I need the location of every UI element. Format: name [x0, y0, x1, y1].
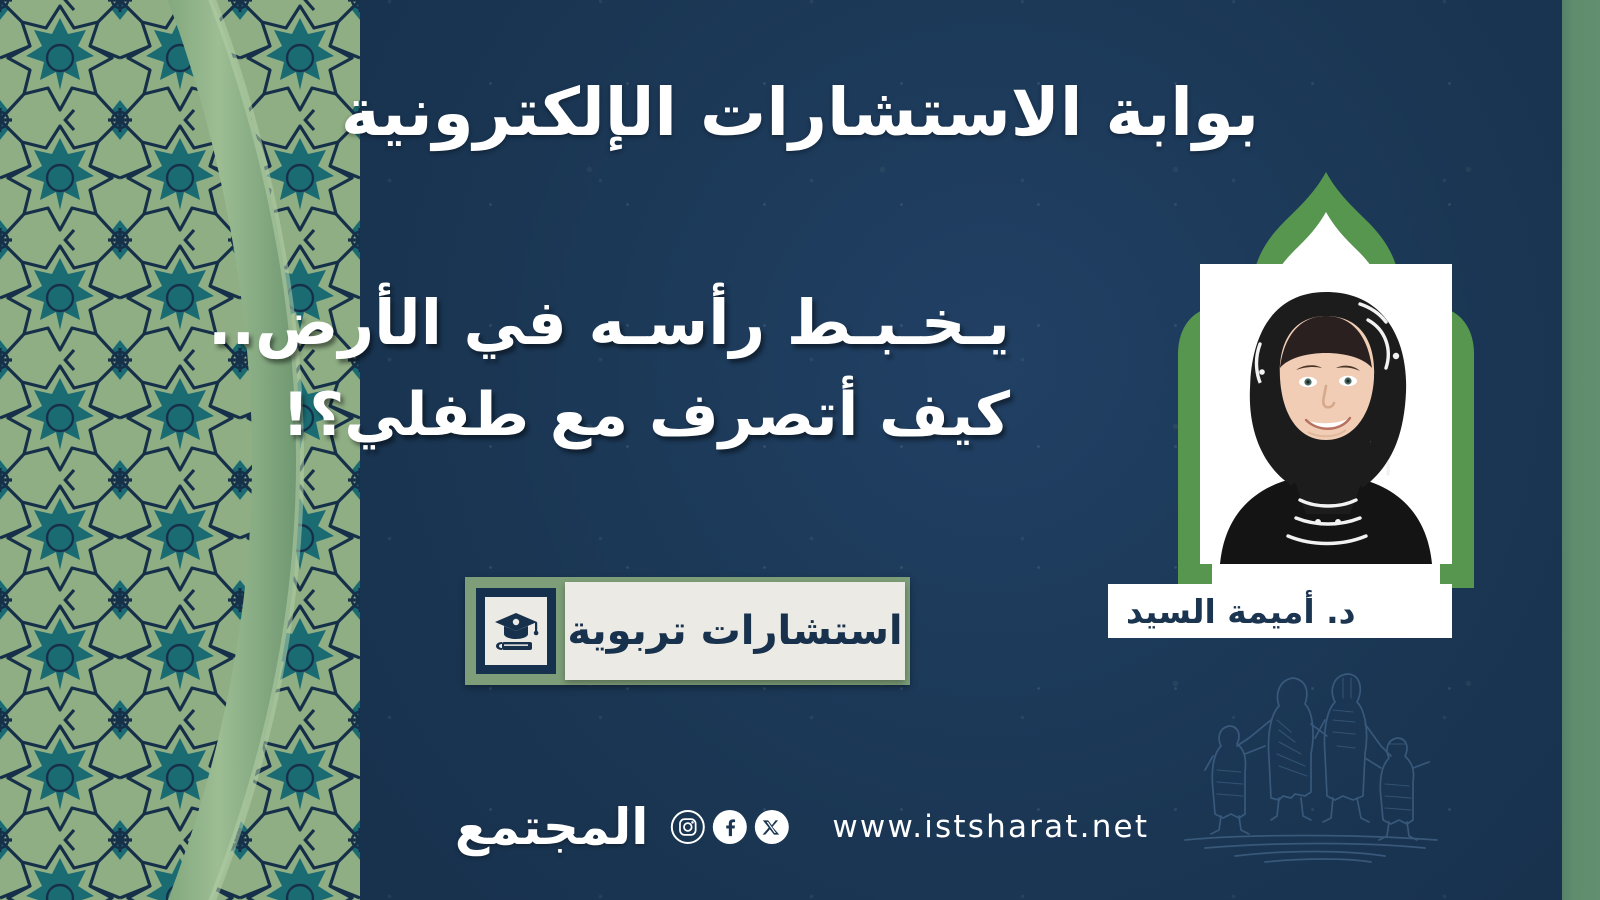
facebook-icon[interactable] [712, 810, 746, 844]
graduation-cap-icon [485, 597, 547, 665]
headline-line-2: كيف أتصرف مع طفلي؟! [290, 370, 1010, 461]
badge-plate: استشارات تربوية [565, 582, 905, 680]
poster-canvas: بوابة الاستشارات الإلكترونية يـخـبـط رأس… [0, 0, 1600, 900]
headline-block: يـخـبـط رأسـه في الأرض.. كيف أتصرف مع طف… [290, 276, 1010, 461]
footer-bar: المجتمع www.istsharat.net [451, 802, 1149, 852]
family-silhouette-sketch [1175, 650, 1455, 865]
speaker-portrait-frame: د. أميمة السيد [1152, 168, 1500, 638]
speaker-name: د. أميمة السيد [1126, 592, 1356, 631]
headline-line-1: يـخـبـط رأسـه في الأرض.. [290, 276, 1010, 370]
speaker-photo [1200, 264, 1452, 564]
instagram-icon[interactable] [670, 810, 704, 844]
category-badge[interactable]: استشارات تربوية [465, 577, 910, 685]
header-calligraphy-text: بوابة الاستشارات الإلكترونية [341, 72, 1259, 155]
header-calligraphy: بوابة الاستشارات الإلكترونية [450, 38, 1150, 188]
social-links [670, 810, 788, 844]
speaker-nameplate: د. أميمة السيد [1108, 584, 1452, 638]
brand-logo: المجتمع [455, 802, 649, 852]
badge-icon-box [476, 588, 556, 674]
website-url[interactable]: www.istsharat.net [832, 809, 1149, 845]
x-twitter-icon[interactable] [754, 810, 788, 844]
badge-label: استشارات تربوية [567, 608, 902, 654]
green-edge-strip [1562, 0, 1600, 900]
